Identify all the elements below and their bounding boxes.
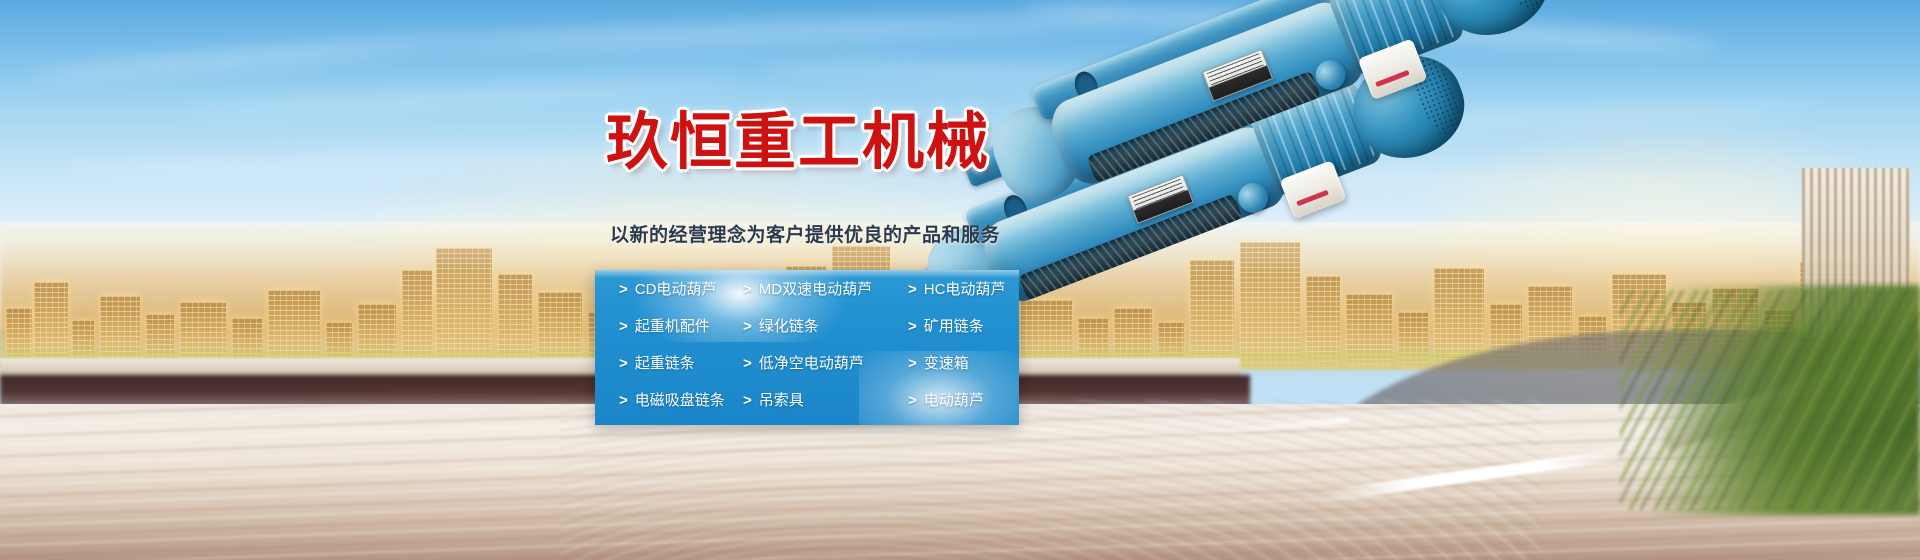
product-link-label: 矿用链条	[924, 318, 984, 335]
product-link-label: 起重机配件	[635, 318, 710, 335]
chevron-right-icon: >	[619, 318, 628, 335]
junction-box-label	[1375, 70, 1409, 87]
fan-cover-grill	[1488, 0, 1554, 16]
product-link-md-dual-speed-hoist[interactable]: >MD双速电动葫芦	[743, 278, 872, 299]
product-link-label: 电动葫芦	[924, 392, 984, 409]
chevron-right-icon: >	[908, 281, 917, 298]
chevron-right-icon: >	[908, 318, 917, 335]
chevron-right-icon: >	[743, 318, 752, 335]
product-link-label: HC电动葫芦	[924, 281, 1006, 298]
product-link-lifting-slings[interactable]: >吊索具	[743, 389, 804, 410]
product-link-magnetic-chuck-chain[interactable]: >电磁吸盘链条	[619, 389, 725, 410]
product-links-row: >起重机配件 >绿化链条 >矿用链条	[595, 315, 1019, 353]
product-link-gearbox[interactable]: >变速箱	[908, 352, 969, 373]
banner-headline: 玖恒重工机械	[606, 112, 990, 174]
product-links-panel: >CD电动葫芦 >MD双速电动葫芦 >HC电动葫芦 >起重机配件 >绿化链条 >…	[595, 270, 1019, 425]
chevron-right-icon: >	[743, 281, 752, 298]
banner-subheadline: 以新的经营理念为客户提供优良的产品和服务	[610, 220, 1000, 247]
product-links-grid: >CD电动葫芦 >MD双速电动葫芦 >HC电动葫芦 >起重机配件 >绿化链条 >…	[595, 270, 1019, 425]
product-link-electric-hoist[interactable]: >电动葫芦	[908, 389, 984, 410]
product-link-label: 起重链条	[635, 355, 695, 372]
junction-box-label	[1296, 190, 1329, 207]
chevron-right-icon: >	[743, 355, 752, 372]
chevron-right-icon: >	[619, 392, 628, 409]
product-link-mining-chain[interactable]: >矿用链条	[908, 315, 984, 336]
product-link-label: CD电动葫芦	[635, 281, 717, 298]
product-link-label: 电磁吸盘链条	[635, 392, 725, 409]
product-link-label: MD双速电动葫芦	[759, 281, 872, 298]
product-links-row: >起重链条 >低净空电动葫芦 >变速箱	[595, 352, 1019, 390]
product-links-row: >CD电动葫芦 >MD双速电动葫芦 >HC电动葫芦	[595, 278, 1019, 316]
product-link-lifting-chain[interactable]: >起重链条	[619, 352, 695, 373]
product-link-label: 低净空电动葫芦	[759, 355, 864, 372]
chevron-right-icon: >	[619, 281, 628, 298]
chevron-right-icon: >	[743, 392, 752, 409]
product-link-label: 绿化链条	[759, 318, 819, 335]
chevron-right-icon: >	[908, 392, 917, 409]
product-link-crane-parts[interactable]: >起重机配件	[619, 315, 710, 336]
hero-banner: 玖恒重工机械 以新的经营理念为客户提供优良的产品和服务 >CD电动葫芦 >MD双…	[0, 0, 1920, 560]
product-link-label: 吊索具	[759, 392, 804, 409]
product-links-row: >电磁吸盘链条 >吊索具 >电动葫芦	[595, 389, 1019, 425]
product-link-cd-hoist[interactable]: >CD电动葫芦	[619, 278, 716, 299]
product-link-label: 变速箱	[924, 355, 969, 372]
product-link-hc-hoist[interactable]: >HC电动葫芦	[908, 278, 1005, 299]
product-link-greening-chain[interactable]: >绿化链条	[743, 315, 819, 336]
product-link-low-headroom-hoist[interactable]: >低净空电动葫芦	[743, 352, 864, 373]
chevron-right-icon: >	[619, 355, 628, 372]
chevron-right-icon: >	[908, 355, 917, 372]
